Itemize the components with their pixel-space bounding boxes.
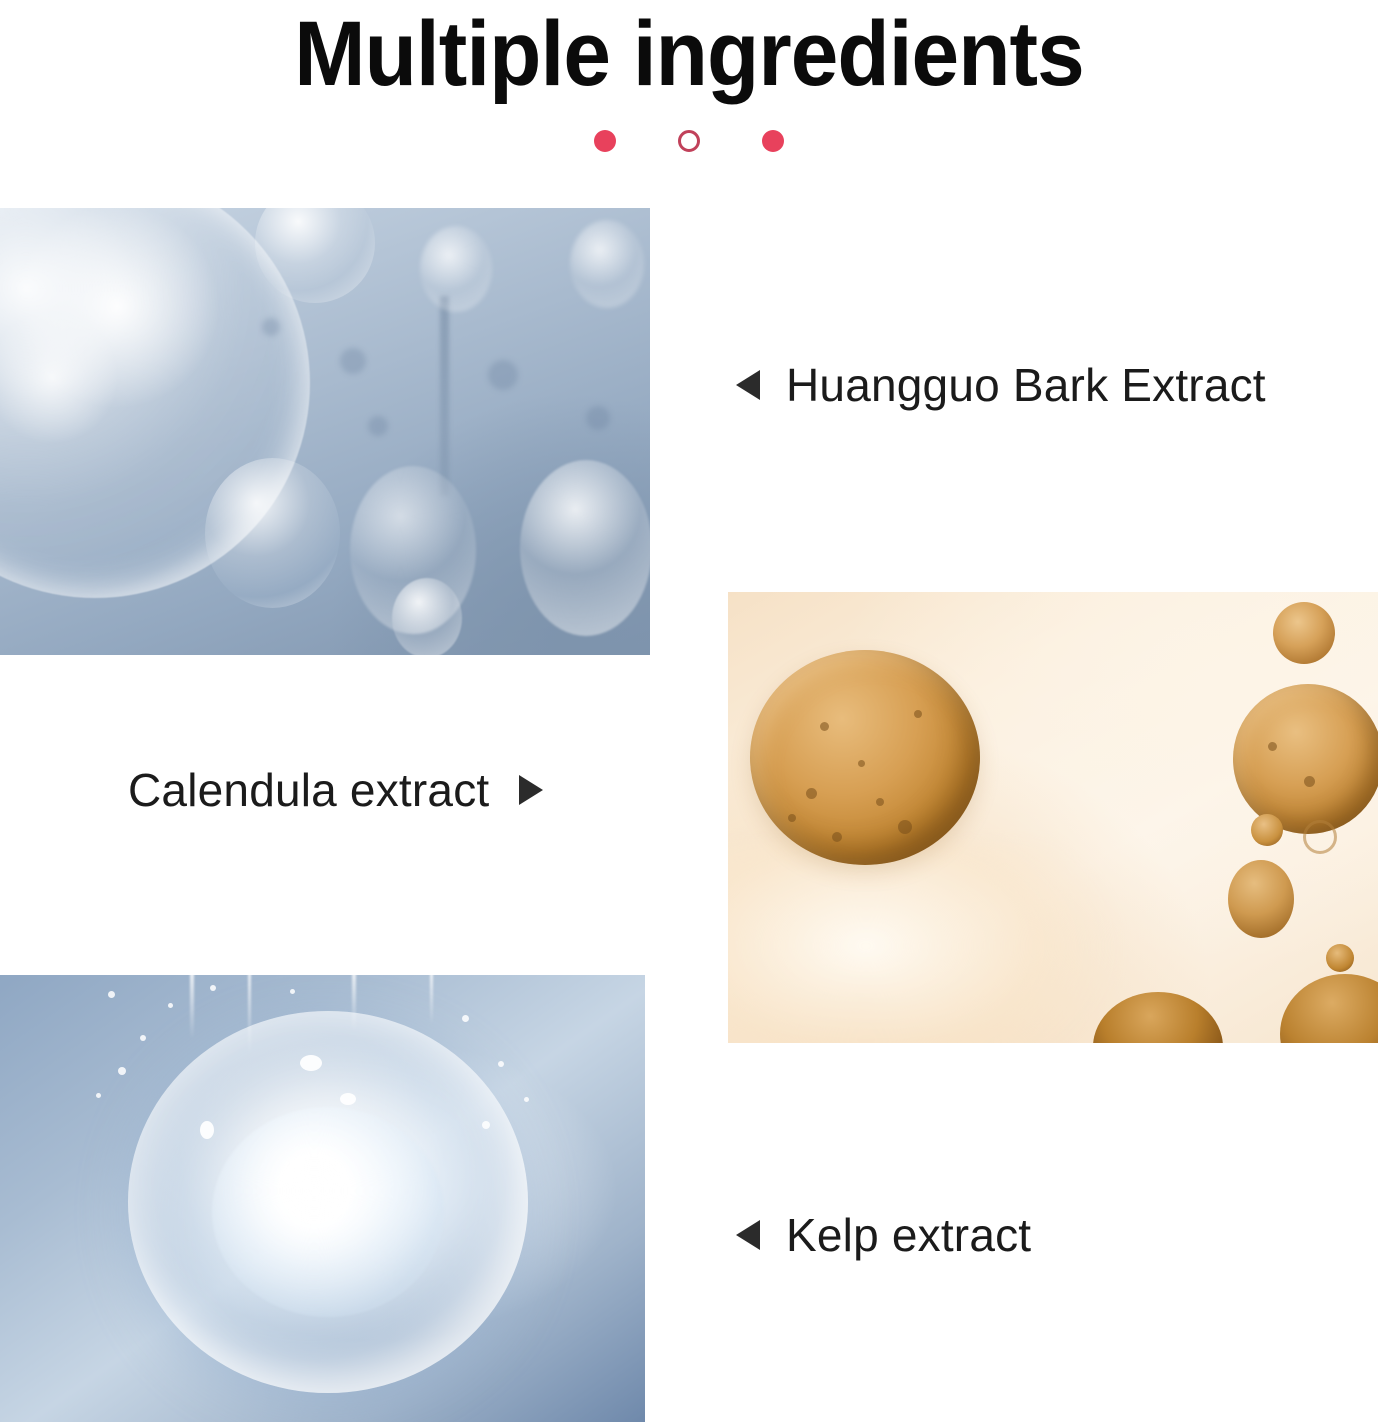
pagination-dot-3[interactable] <box>762 130 784 152</box>
speck <box>586 406 610 430</box>
triangle-left-icon <box>736 1220 760 1250</box>
page-title: Multiple ingredients <box>48 2 1330 106</box>
triangle-left-icon <box>736 370 760 400</box>
bubble-small <box>420 226 492 312</box>
oil-droplet-ring <box>1303 820 1337 854</box>
water-glint <box>300 1055 322 1071</box>
oil-droplet <box>1280 974 1378 1043</box>
triangle-right-icon <box>519 775 543 805</box>
oil-droplet <box>1228 860 1294 938</box>
water-droplet <box>96 1093 101 1098</box>
water-droplet <box>108 991 115 998</box>
ingredient-label-calendula-extract: Calendula extract <box>128 763 543 817</box>
speck <box>340 348 366 374</box>
bubble-small <box>570 220 644 308</box>
oil-sheen <box>728 842 1118 1043</box>
oil-speck <box>898 820 912 834</box>
water-droplet <box>118 1067 126 1075</box>
speck <box>368 416 388 436</box>
ingredient-label-text: Calendula extract <box>128 763 489 817</box>
bubble-stem <box>440 296 449 496</box>
oil-speck <box>1268 742 1277 751</box>
product-ingredients-infographic: Multiple ingredients <box>0 0 1378 1422</box>
water-streak <box>190 975 194 1039</box>
pagination-dot-1[interactable] <box>594 130 616 152</box>
oil-droplet <box>1273 602 1335 664</box>
water-droplet <box>462 1015 469 1022</box>
ingredient-image-bubbles-blue <box>0 208 650 655</box>
oil-droplet <box>1326 944 1354 972</box>
ingredient-label-huangguo-bark-extract: Huangguo Bark Extract <box>736 358 1266 412</box>
bubble-small <box>205 458 340 608</box>
oil-speck <box>806 788 817 799</box>
water-droplet <box>168 1003 173 1008</box>
water-sphere-core <box>212 1107 444 1317</box>
oil-speck <box>858 760 865 767</box>
ingredient-label-kelp-extract: Kelp extract <box>736 1208 1031 1262</box>
speck <box>488 360 518 390</box>
bubble-small <box>520 460 650 636</box>
oil-droplet <box>1233 684 1378 834</box>
oil-speck <box>820 722 829 731</box>
water-droplet <box>210 985 216 991</box>
oil-speck <box>1304 776 1315 787</box>
water-streak <box>430 975 433 1025</box>
water-glint <box>340 1093 356 1105</box>
water-droplet <box>140 1035 146 1041</box>
water-droplet <box>290 989 295 994</box>
pagination-dot-2[interactable] <box>678 130 700 152</box>
water-glint <box>200 1121 214 1139</box>
oil-speck <box>788 814 796 822</box>
bubble-small <box>392 578 462 655</box>
water-droplet <box>482 1121 490 1129</box>
pagination-dots <box>0 130 1378 152</box>
oil-speck <box>914 710 922 718</box>
ingredient-label-text: Kelp extract <box>786 1208 1031 1262</box>
water-droplet <box>498 1061 504 1067</box>
oil-droplet <box>1251 814 1283 846</box>
oil-droplet-large <box>750 650 980 865</box>
water-droplet <box>524 1097 529 1102</box>
oil-speck <box>832 832 842 842</box>
ingredient-image-water-sphere <box>0 975 645 1422</box>
speck <box>262 318 280 336</box>
oil-speck <box>876 798 884 806</box>
ingredient-label-text: Huangguo Bark Extract <box>786 358 1266 412</box>
ingredient-image-oil-amber <box>728 592 1378 1043</box>
